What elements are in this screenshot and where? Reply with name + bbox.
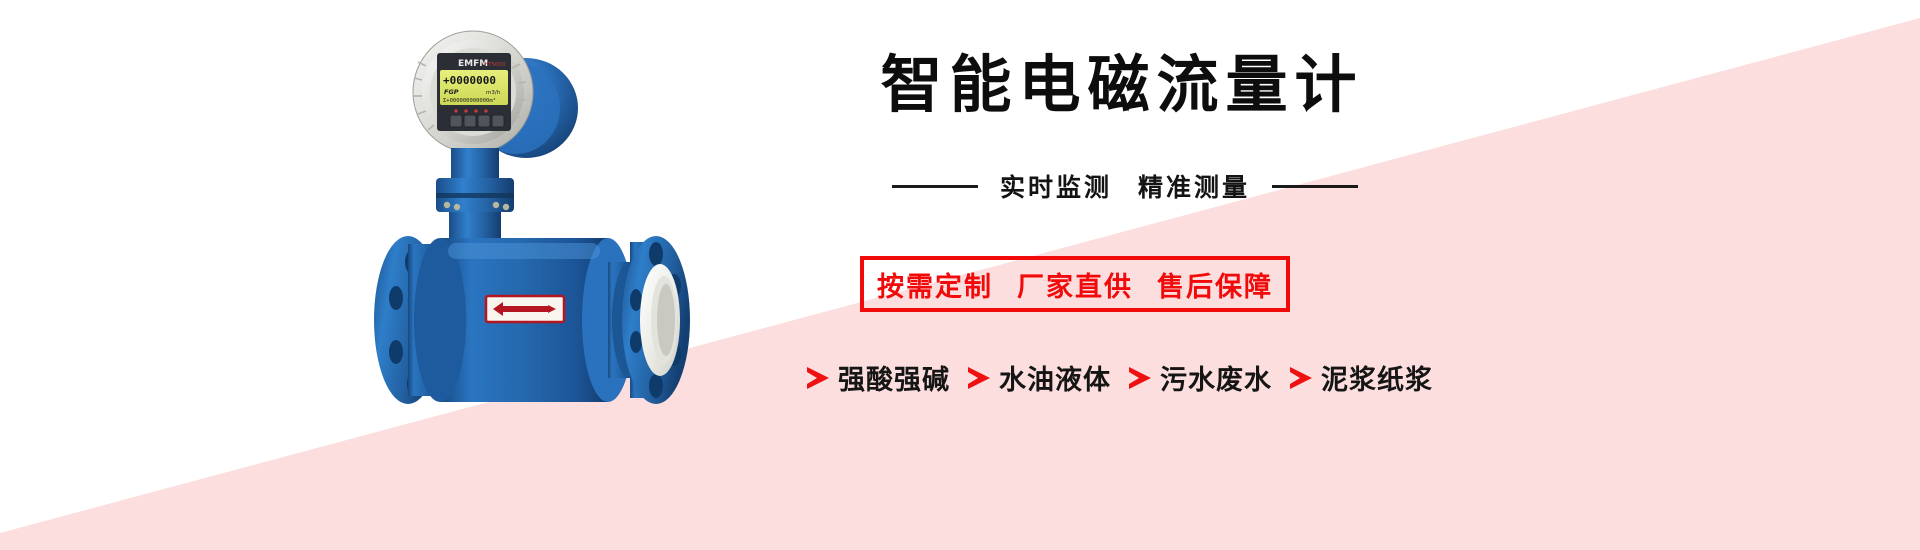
neck-bolt bbox=[444, 202, 450, 208]
key-button bbox=[492, 115, 504, 127]
product-image-electromagnetic-flowmeter: EMFM HT5000 +0000000 FGP m3/h Σ+00000000… bbox=[330, 0, 810, 470]
feature-item: 泥浆纸浆 bbox=[1290, 358, 1433, 397]
badge-item-1: 按需定制 bbox=[877, 272, 993, 303]
feature-label: 水油液体 bbox=[999, 358, 1111, 397]
converter-display-head: EMFM HT5000 +0000000 FGP m3/h Σ+00000000… bbox=[413, 31, 533, 153]
key-button bbox=[464, 115, 476, 127]
feature-label: 强酸强碱 bbox=[838, 358, 950, 397]
subtitle-right: 精准测量 bbox=[1138, 173, 1250, 202]
arrow-right-icon bbox=[1290, 367, 1312, 389]
badge-item-3: 售后保障 bbox=[1157, 272, 1273, 303]
feature-item: 强酸强碱 bbox=[807, 358, 950, 397]
arrow-right-icon bbox=[807, 367, 829, 389]
feature-item: 污水废水 bbox=[1129, 358, 1272, 397]
subtitle-text: 实时监测精准测量 bbox=[1000, 168, 1250, 204]
lcd-totalizer: Σ+000000000000m³ bbox=[443, 97, 496, 104]
lcd-line-label: FGP bbox=[444, 88, 459, 96]
neck-bolt bbox=[454, 204, 460, 210]
promise-badge-box: 按需定制厂家直供售后保障 bbox=[860, 256, 1290, 312]
lcd-line-unit: m3/h bbox=[486, 90, 501, 96]
flow-direction-label bbox=[486, 296, 564, 322]
display-model: HT5000 bbox=[484, 62, 506, 68]
neck-bolt bbox=[493, 202, 499, 208]
neck-bolt bbox=[503, 204, 509, 210]
subtitle-row: 实时监测精准测量 bbox=[845, 168, 1405, 204]
feature-label: 泥浆纸浆 bbox=[1321, 358, 1433, 397]
arrow-right-icon bbox=[1129, 367, 1151, 389]
promise-badge-text: 按需定制厂家直供售后保障 bbox=[877, 265, 1273, 304]
subtitle-rule-right bbox=[1272, 185, 1358, 188]
product-banner: EMFM HT5000 +0000000 FGP m3/h Σ+00000000… bbox=[0, 0, 1920, 550]
banner-copy: 智能电磁流量计 实时监测精准测量 按需定制厂家直供售后保障 强酸强碱 水油液体 bbox=[740, 0, 1500, 550]
feature-item: 水油液体 bbox=[968, 358, 1111, 397]
key-button bbox=[478, 115, 490, 127]
feature-label: 污水废水 bbox=[1160, 358, 1272, 397]
subtitle-rule-left bbox=[892, 185, 978, 188]
feature-list: 强酸强碱 水油液体 污水废水 泥浆纸浆 bbox=[740, 358, 1500, 397]
measuring-tube-body bbox=[374, 236, 690, 404]
arrow-right-icon bbox=[968, 367, 990, 389]
lcd-reading: +0000000 bbox=[443, 74, 496, 87]
page-title: 智能电磁流量计 bbox=[812, 50, 1432, 119]
badge-item-2: 厂家直供 bbox=[1017, 272, 1133, 303]
key-button bbox=[450, 115, 462, 127]
subtitle-left: 实时监测 bbox=[1000, 173, 1112, 202]
